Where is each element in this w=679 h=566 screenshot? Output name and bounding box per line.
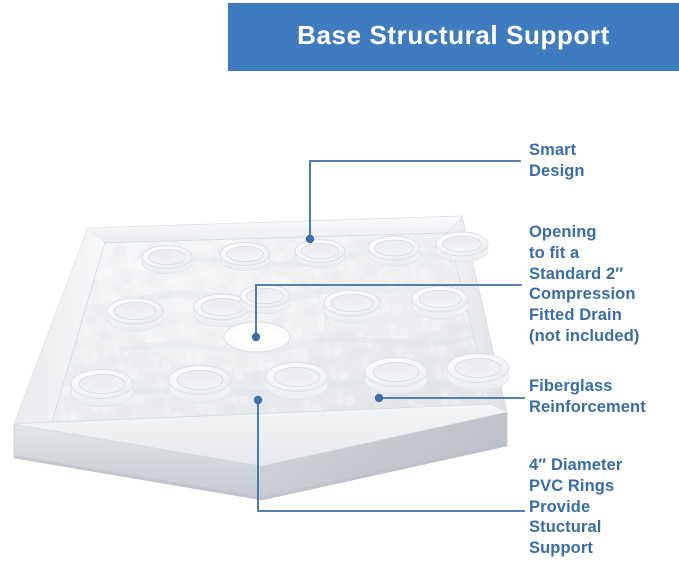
pvc-ring	[447, 354, 509, 391]
pvc-ring	[412, 286, 468, 319]
pvc-ring	[368, 236, 420, 266]
pvc-ring	[266, 363, 328, 400]
pvc-support-rings	[71, 232, 509, 407]
leader-dot-fiberglass	[375, 394, 383, 402]
pvc-ring	[220, 243, 270, 271]
base-rim	[14, 216, 507, 466]
leader-dot-smart-design	[306, 235, 314, 243]
pvc-ring	[295, 240, 345, 268]
callout-label-smart-design: Smart Design	[529, 140, 675, 182]
page-title: Base Structural Support	[228, 3, 679, 71]
header-banner: Base Structural Support	[228, 3, 679, 71]
pvc-ring	[142, 246, 192, 274]
callout-label-drain-opening: Opening to fit a Standard 2″ Compression…	[529, 222, 679, 347]
pvc-ring	[194, 294, 250, 327]
leader-endpoint-dots	[252, 235, 383, 404]
leader-smart-design	[310, 161, 520, 239]
base-slab-sides	[14, 412, 507, 500]
leader-drain-opening	[256, 285, 521, 337]
pvc-ring	[169, 366, 231, 403]
pvc-ring	[107, 298, 163, 331]
leader-pvc-rings	[258, 400, 524, 511]
pvc-ring	[240, 285, 290, 314]
pvc-ring	[436, 232, 488, 262]
pvc-ring	[324, 290, 380, 323]
callout-label-pvc-rings: 4″ Diameter PVC Rings Provide Stuctural …	[529, 455, 679, 559]
drain-opening	[224, 322, 290, 352]
callout-label-fiberglass: Fiberglass Reinforcement	[529, 376, 679, 418]
pvc-ring	[71, 370, 133, 407]
leader-dot-pvc-rings	[254, 396, 262, 404]
base-inner-floor	[52, 233, 495, 422]
pvc-ring	[365, 358, 427, 395]
base-top-surface	[14, 216, 507, 466]
leader-dot-drain-opening	[252, 333, 260, 341]
illustration-stage: Base Structural Support Smart Design Ope…	[0, 0, 679, 566]
